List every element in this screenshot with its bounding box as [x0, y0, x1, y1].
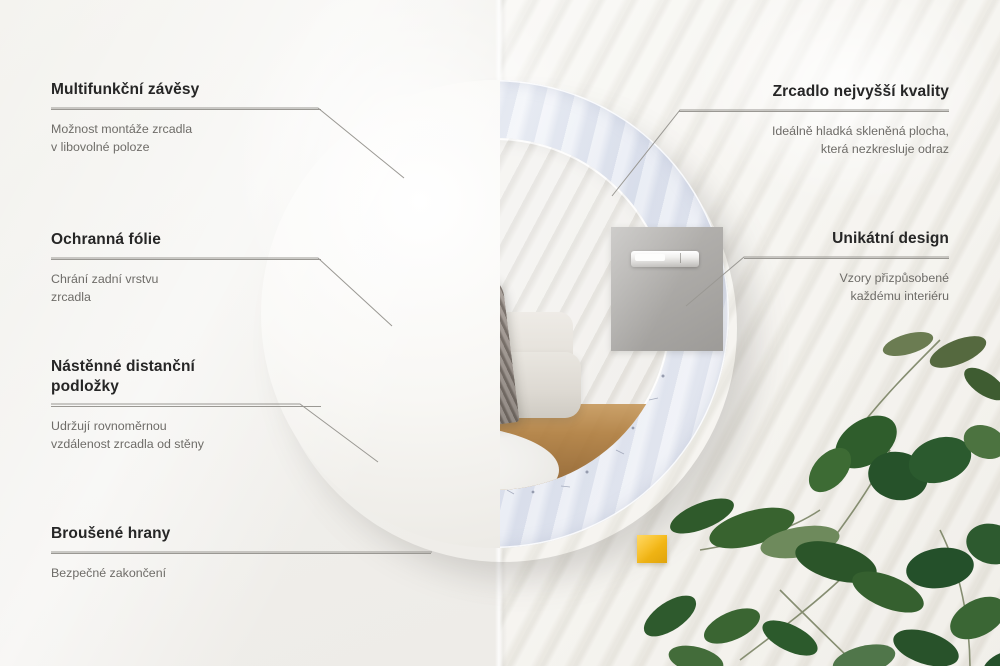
callout-top-quality-mirror: Zrcadlo nejvyšší kvality Ideálně hladká …: [679, 82, 949, 158]
callout-unique-design: Unikátní design Vzory přizpůsobené každé…: [744, 229, 949, 305]
callout-rule: [744, 258, 949, 259]
yellow-spacer-pad: [637, 535, 667, 563]
callout-ground-edges: Broušené hrany Bezpečné zakončení: [51, 524, 431, 582]
callout-description-line1: Udržují rovnoměrnou: [51, 417, 321, 435]
callout-description-line1: Chrání zadní vrstvu: [51, 270, 321, 288]
callout-description-line2: zrcadla: [51, 288, 321, 306]
callout-description-line2: každému interiéru: [744, 287, 949, 305]
callout-rule: [679, 111, 949, 112]
callout-title-line1: Nástěnné distanční: [51, 357, 321, 377]
callout-title-line2: podložky: [51, 377, 321, 397]
callout-description-line1: Ideálně hladká skleněná plocha,: [679, 122, 949, 140]
protective-film-patch: [611, 227, 723, 351]
round-mirror: [261, 80, 729, 548]
callout-rule: [51, 109, 321, 110]
callout-title: Unikátní design: [744, 229, 949, 249]
callout-description-line2: v libovolné poloze: [51, 138, 321, 156]
callout-rule: [51, 406, 321, 407]
mirror-hanger-bracket: [631, 251, 699, 267]
infographic-canvas: Multifunkční závěsy Možnost montáže zrca…: [0, 0, 1000, 666]
callout-protective-film: Ochranná fólie Chrání zadní vrstvu zrcad…: [51, 230, 321, 306]
callout-description-line2: vzdálenost zrcadla od stěny: [51, 435, 321, 453]
callout-title: Broušené hrany: [51, 524, 431, 544]
callout-rule: [51, 259, 321, 260]
callout-title: Ochranná fólie: [51, 230, 321, 250]
callout-description-line1: Možnost montáže zrcadla: [51, 120, 321, 138]
callout-title: Multifunkční závěsy: [51, 80, 321, 100]
callout-multifunctional-hangers: Multifunkční závěsy Možnost montáže zrca…: [51, 80, 321, 156]
callout-description-line2: která nezkresluje odraz: [679, 140, 949, 158]
callout-description-line1: Bezpečné zakončení: [51, 564, 431, 582]
callout-rule: [51, 553, 431, 554]
callout-description-line1: Vzory přizpůsobené: [744, 269, 949, 287]
callout-title: Zrcadlo nejvyšší kvality: [679, 82, 949, 102]
callout-wall-spacers: Nástěnné distanční podložky Udržují rovn…: [51, 357, 321, 453]
